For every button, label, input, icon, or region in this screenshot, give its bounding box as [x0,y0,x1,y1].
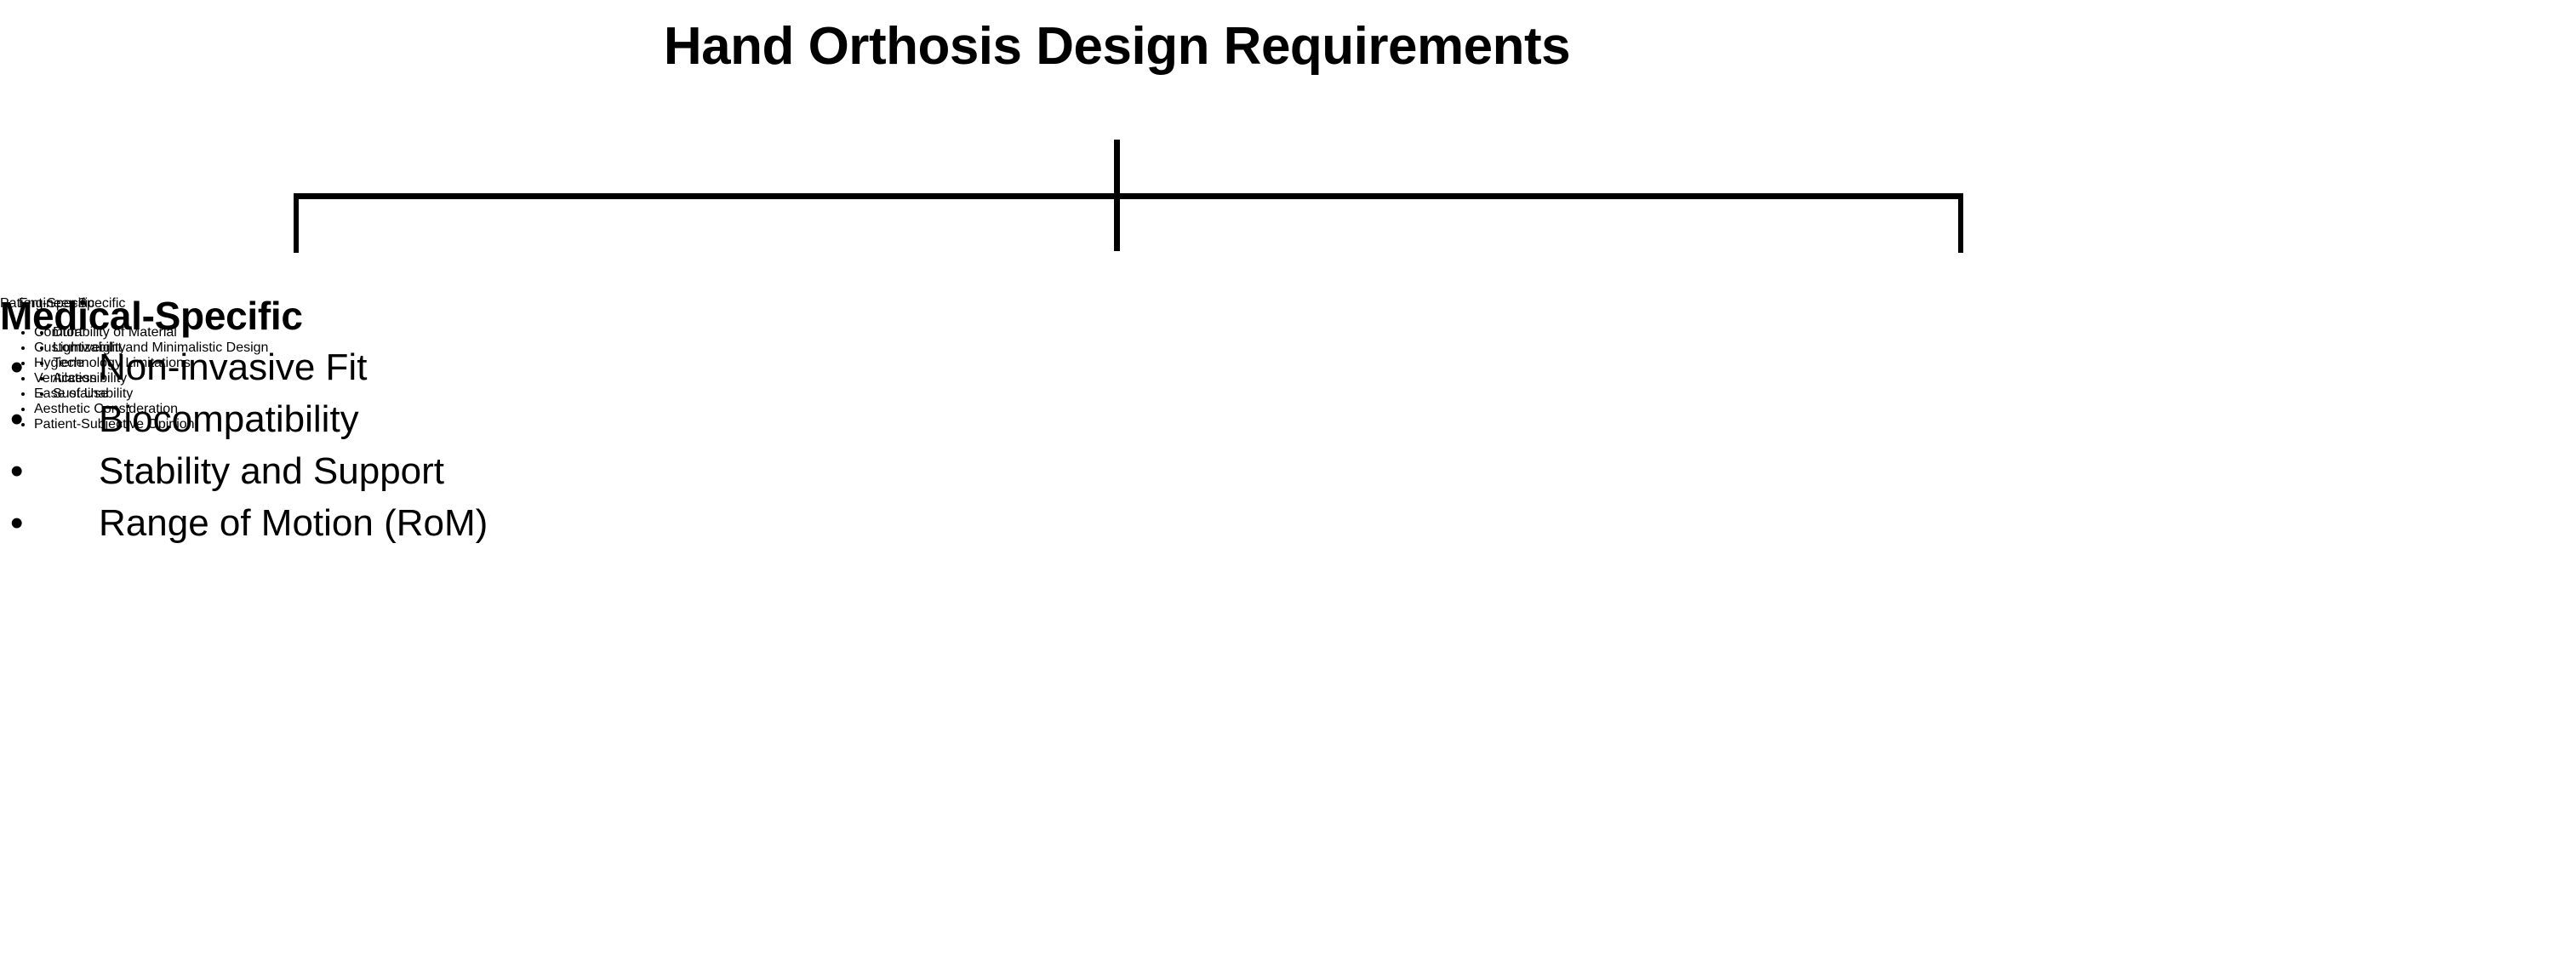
connector-stem-top [1114,140,1120,199]
list-item: Customizability [34,340,195,356]
connector-leg-left [294,193,299,253]
list-item: Ease of Use [34,386,195,402]
list-item: Comfort [34,325,195,340]
connector-horizontal-bar [294,193,1963,199]
branch-header-patient: Patient-Specific [0,296,195,312]
list-item: Range of Motion (RoM) [0,503,488,544]
list-item: Hygiene [34,356,195,371]
branch-patient-specific: Patient-Specific Comfort Customizability… [0,296,195,446]
list-item: Ventilation [34,371,195,386]
connector-leg-right [1958,193,1963,253]
list-item: Aesthetic Consideration [34,402,195,417]
list-item: Patient-Subjective Opinion [34,417,195,432]
requirement-list-patient: Comfort Customizability Hygiene Ventilat… [0,325,195,432]
connector-leg-center [1114,193,1120,251]
list-item: Stability and Support [0,451,488,492]
